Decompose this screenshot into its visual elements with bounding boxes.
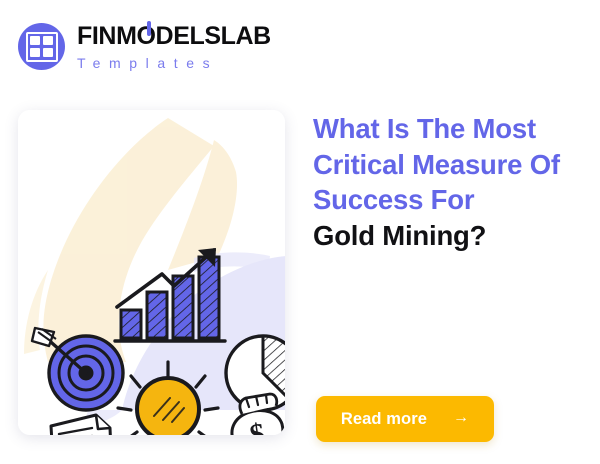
brand-tagline: Templates bbox=[77, 56, 271, 70]
page-title: What Is The Most Critical Measure Of Suc… bbox=[313, 111, 585, 253]
brand-logo[interactable]: FINMODELSLAB Templates bbox=[18, 23, 271, 70]
grid-cell bbox=[30, 36, 40, 45]
headline-question: What Is The Most Critical Measure Of Suc… bbox=[313, 113, 560, 215]
pin-accent-icon bbox=[147, 21, 151, 36]
grid-cell bbox=[30, 48, 40, 57]
arrow-right-icon: → bbox=[453, 410, 469, 426]
business-analytics-illustration: $ bbox=[18, 110, 285, 435]
read-more-button[interactable]: Read more → bbox=[316, 396, 494, 442]
illustration-card: $ bbox=[18, 110, 285, 435]
read-more-label: Read more bbox=[341, 410, 427, 429]
grid-cell bbox=[43, 48, 53, 57]
brand-text-block: FINMODELSLAB Templates bbox=[77, 24, 271, 70]
promo-card: FINMODELSLAB Templates bbox=[0, 0, 600, 464]
grid-logo-icon bbox=[18, 23, 65, 70]
headline-subject: Gold Mining? bbox=[313, 218, 585, 253]
brand-name: FINMODELSLAB bbox=[77, 24, 271, 49]
brand-name-label: FINMODELSLAB bbox=[77, 22, 271, 50]
grid-cell bbox=[43, 36, 53, 45]
grid-glyph bbox=[26, 32, 58, 62]
